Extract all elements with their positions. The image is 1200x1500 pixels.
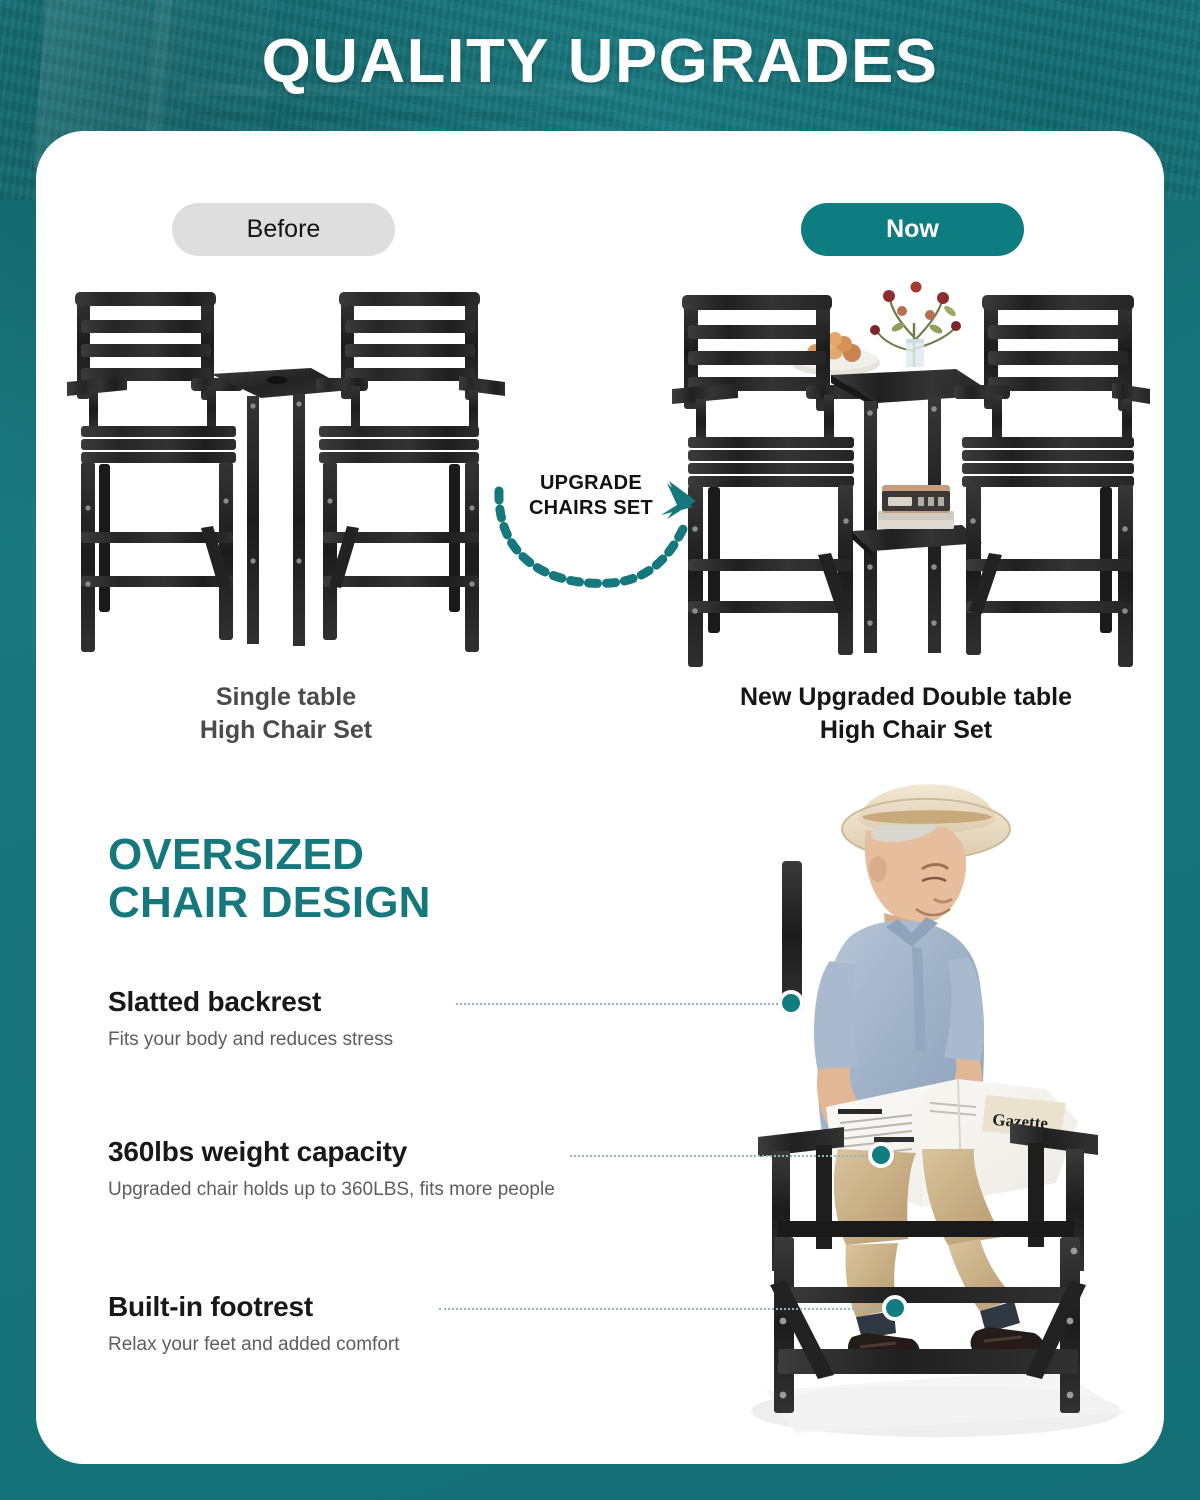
now-caption: New Upgraded Double table High Chair Set — [646, 681, 1164, 747]
feature-subtitle: Relax your feet and added comfort — [108, 1334, 400, 1356]
callout-marker-dot — [882, 1295, 908, 1321]
now-product-image — [666, 271, 1156, 676]
callout-leader-line — [456, 1003, 786, 1005]
page-title: QUALITY UPGRADES — [0, 31, 1200, 93]
before-caption: Single table High Chair Set — [66, 681, 506, 747]
before-product-image — [61, 286, 511, 676]
now-caption-line-2: High Chair Set — [646, 714, 1164, 747]
callout-marker-dot — [778, 990, 804, 1016]
upgrade-label-line-1: UPGRADE — [496, 471, 686, 496]
before-caption-line-2: High Chair Set — [66, 714, 506, 747]
now-label-text: Now — [886, 215, 939, 244]
section-heading: OVERSIZED CHAIR DESIGN — [108, 831, 431, 926]
background-texture-strip — [185, 112, 615, 121]
feature-item: Built-in footrest Relax your feet and ad… — [108, 1291, 400, 1356]
now-caption-line-1: New Upgraded Double table — [646, 681, 1164, 714]
callout-leader-line — [570, 1155, 880, 1157]
upgrade-label-line-2: CHAIRS SET — [496, 496, 686, 521]
feature-subtitle: Upgraded chair holds up to 360LBS, fits … — [108, 1179, 555, 1201]
feature-title: Slatted backrest — [108, 986, 393, 1018]
feature-subtitle: Fits your body and reduces stress — [108, 1029, 393, 1051]
upgrade-arrow-label: UPGRADE CHAIRS SET — [496, 471, 686, 521]
feature-title: Built-in footrest — [108, 1291, 400, 1323]
before-label-pill: Before — [172, 203, 395, 256]
before-label-text: Before — [247, 215, 321, 244]
callout-marker-dot — [868, 1142, 894, 1168]
content-card: Before Now — [36, 131, 1164, 1464]
before-caption-line-1: Single table — [66, 681, 506, 714]
man-figure: Gazette — [814, 784, 1078, 1363]
feature-item: Slatted backrest Fits your body and redu… — [108, 986, 393, 1051]
lifestyle-photo: Gazette — [726, 751, 1164, 1451]
feature-item: 360lbs weight capacity Upgraded chair ho… — [108, 1136, 555, 1201]
section-heading-line-2: CHAIR DESIGN — [108, 879, 431, 927]
feature-title: 360lbs weight capacity — [108, 1136, 555, 1168]
callout-leader-line — [439, 1308, 894, 1310]
section-heading-line-1: OVERSIZED — [108, 831, 431, 879]
now-label-pill: Now — [801, 203, 1024, 256]
flower-vase-icon — [870, 282, 961, 368]
